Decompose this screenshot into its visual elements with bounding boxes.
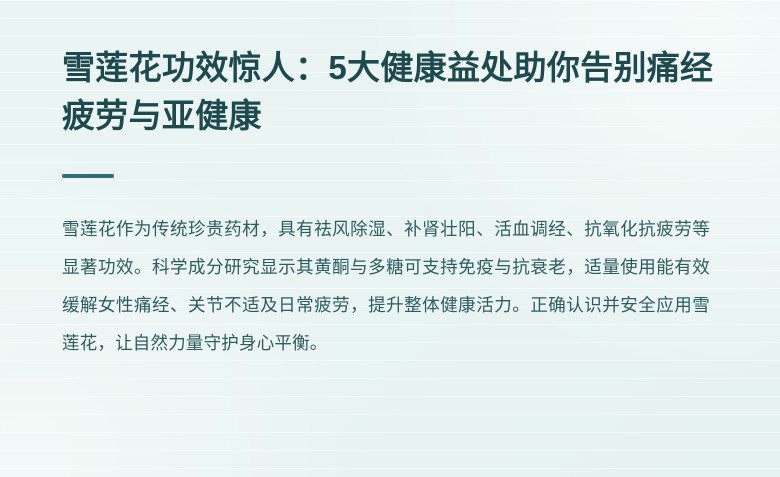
article-card: 雪莲花功效惊人：5大健康益处助你告别痛经疲劳与亚健康 雪莲花作为传统珍贵药材，具… xyxy=(0,0,780,477)
article-summary: 雪莲花作为传统珍贵药材，具有祛风除湿、补肾壮阳、活血调经、抗氧化抗疲劳等显著功效… xyxy=(62,210,710,362)
card-content: 雪莲花功效惊人：5大健康益处助你告别痛经疲劳与亚健康 雪莲花作为传统珍贵药材，具… xyxy=(0,0,780,362)
page-title: 雪莲花功效惊人：5大健康益处助你告别痛经疲劳与亚健康 xyxy=(62,44,718,140)
title-divider xyxy=(62,174,114,178)
